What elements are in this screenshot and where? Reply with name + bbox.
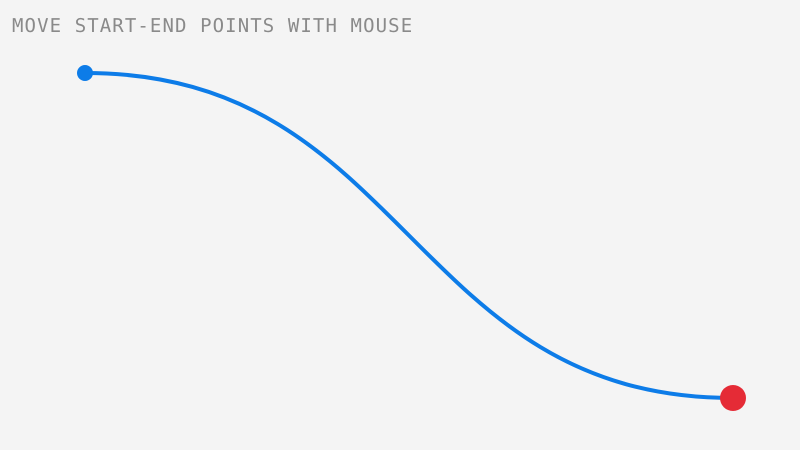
canvas-surface[interactable]: MOVE START-END POINTS WITH MOUSE bbox=[0, 0, 800, 450]
start-point-handle[interactable] bbox=[77, 65, 93, 81]
end-point-handle[interactable] bbox=[720, 385, 746, 411]
bezier-stage[interactable] bbox=[0, 0, 800, 450]
bezier-demo-app: MOVE START-END POINTS WITH MOUSE bbox=[0, 0, 800, 450]
